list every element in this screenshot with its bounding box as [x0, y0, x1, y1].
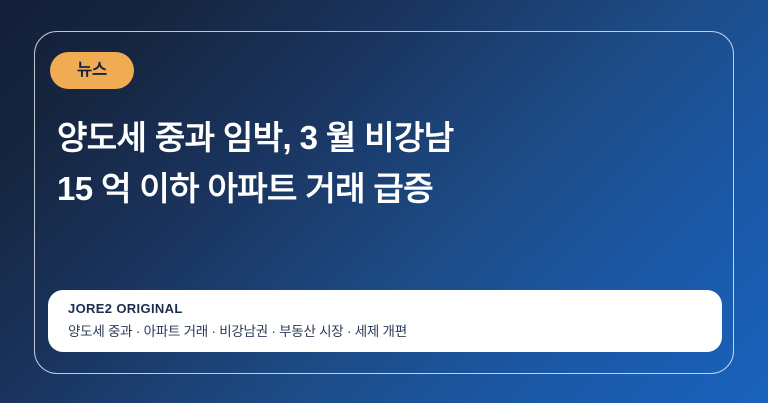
category-badge[interactable]: 뉴스 — [50, 52, 134, 89]
headline: 양도세 중과 임박, 3 월 비강남 15 억 이하 아파트 거래 급증 — [57, 112, 697, 214]
category-badge-label: 뉴스 — [77, 62, 107, 79]
headline-line-1: 양도세 중과 임박, 3 월 비강남 — [57, 112, 697, 163]
headline-line-2: 15 억 이하 아파트 거래 급증 — [57, 163, 697, 214]
news-card-surface: 뉴스 양도세 중과 임박, 3 월 비강남 15 억 이하 아파트 거래 급증 … — [0, 0, 768, 403]
meta-tags-label: 양도세 중과 · 아파트 거래 · 비강남권 · 부동산 시장 · 세제 개편 — [68, 322, 702, 342]
meta-source-label: JORE2 ORIGINAL — [68, 300, 702, 319]
meta-card: JORE2 ORIGINAL 양도세 중과 · 아파트 거래 · 비강남권 · … — [48, 290, 722, 352]
